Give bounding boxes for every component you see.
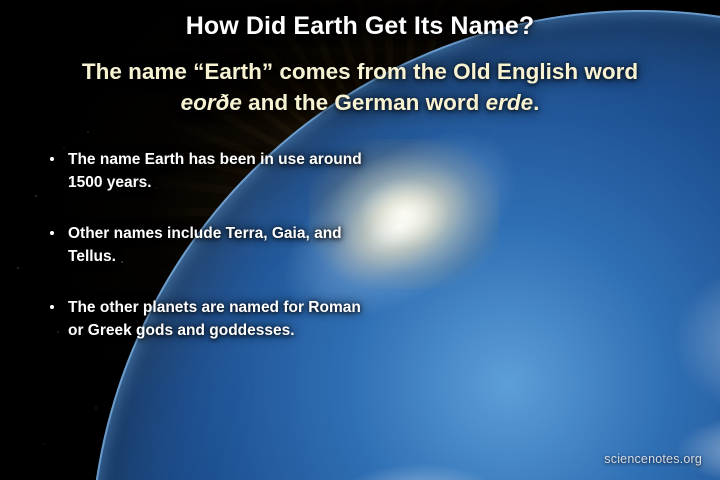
- list-item-text: The name Earth has been in use around 15…: [68, 151, 362, 191]
- subtitle-line-1: The name “Earth” comes from the Old Engl…: [82, 59, 638, 84]
- bullet-dot-icon: [50, 305, 54, 309]
- old-english-word: eorðe: [181, 90, 242, 115]
- bullet-dot-icon: [50, 157, 54, 161]
- subtitle: The name “Earth” comes from the Old Engl…: [28, 56, 692, 118]
- subtitle-period: .: [533, 90, 539, 115]
- infographic-card: How Did Earth Get Its Name? The name “Ea…: [0, 0, 720, 480]
- list-item: Other names include Terra, Gaia, and Tel…: [44, 222, 374, 268]
- bullet-dot-icon: [50, 231, 54, 235]
- list-item: The name Earth has been in use around 15…: [44, 148, 374, 194]
- subtitle-line-2-middle: and the German word: [242, 90, 486, 115]
- german-word: erde: [486, 90, 534, 115]
- source-watermark: sciencenotes.org: [604, 452, 702, 466]
- list-item-text: The other planets are named for Roman or…: [68, 299, 361, 339]
- page-title: How Did Earth Get Its Name?: [0, 12, 720, 41]
- fact-list: The name Earth has been in use around 15…: [44, 148, 374, 342]
- list-item: The other planets are named for Roman or…: [44, 296, 374, 342]
- list-item-text: Other names include Terra, Gaia, and Tel…: [68, 225, 342, 265]
